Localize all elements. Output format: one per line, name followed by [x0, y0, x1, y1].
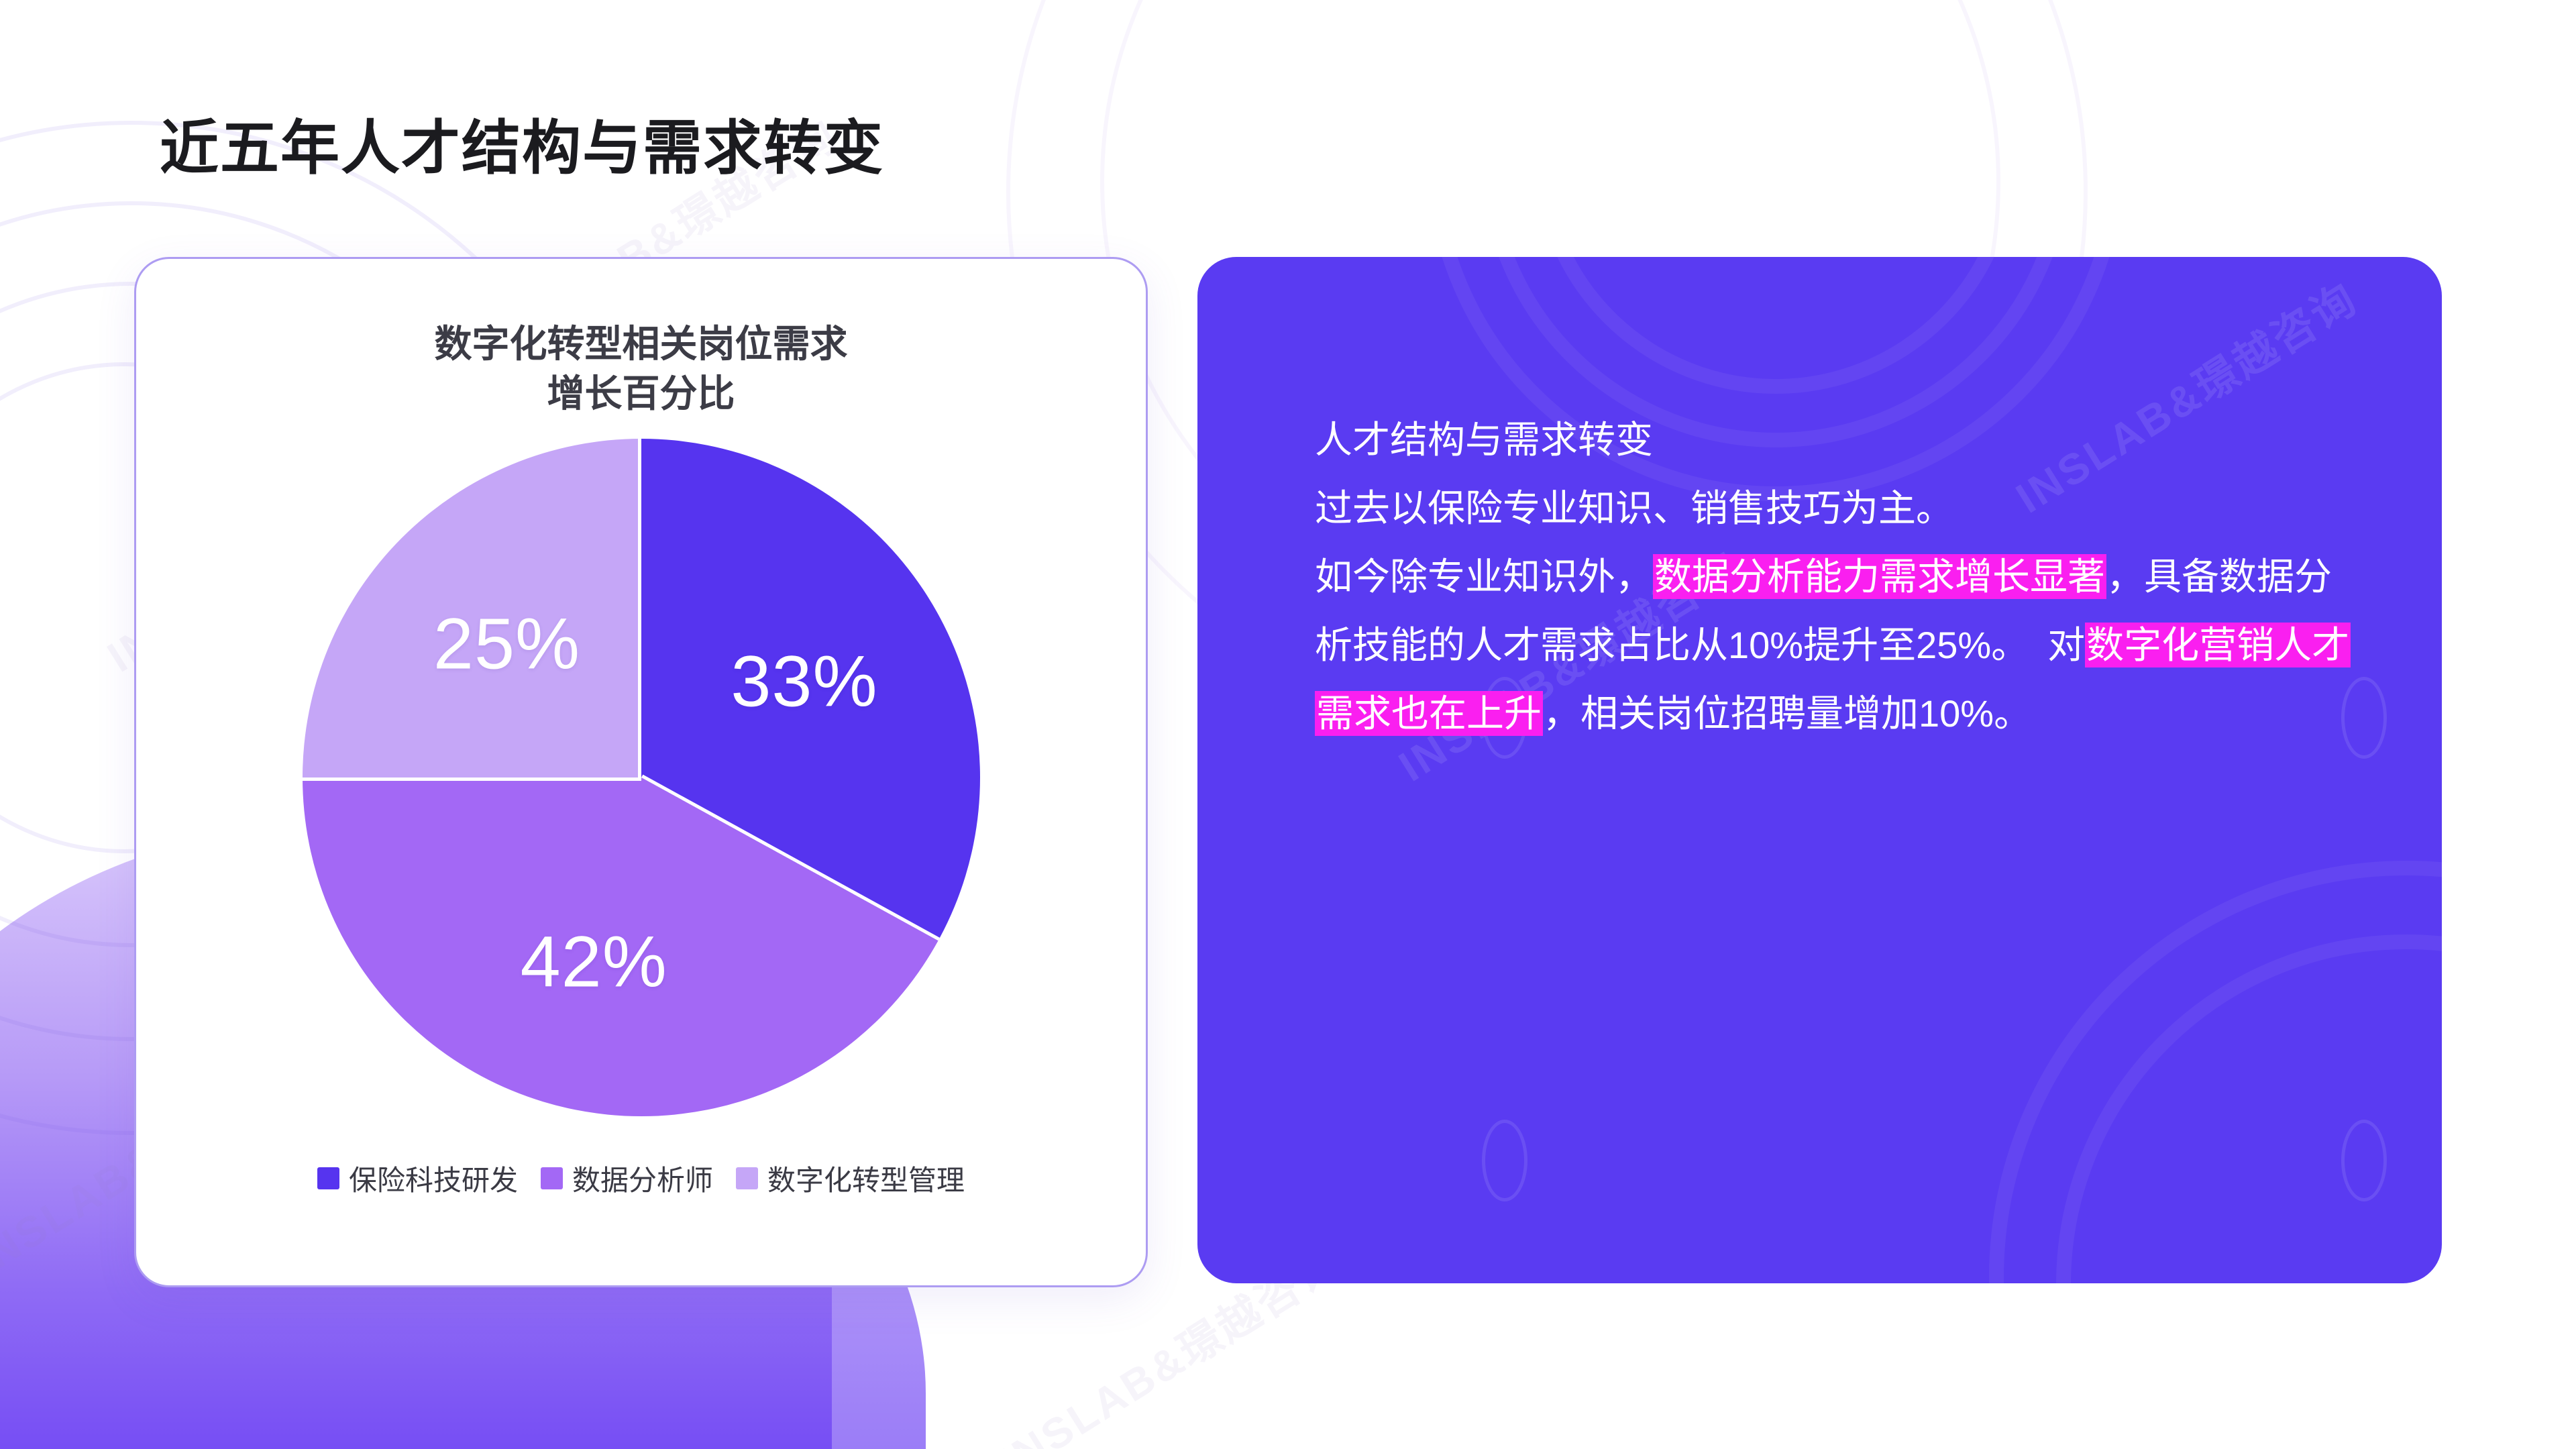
page-title: 近五年人才结构与需求转变 [160, 101, 884, 186]
info-panel-paragraph-2: 如今除专业知识外，数据分析能力需求增长显著，具备数据分析技能的人才需求占比从10… [1315, 543, 2363, 748]
pie-slice-divider [303, 777, 641, 781]
slide-canvas: INSLAB&璟越咨询 INSLAB&璟越咨询 INSLAB&璟越咨询 INSL… [0, 0, 2576, 1449]
pie-chart: 33% 42% 25% [303, 439, 980, 1116]
legend-color-swatch [541, 1167, 563, 1189]
chart-card: INSLAB&璟越咨询 数字化转型相关岗位需求 增长百分比 33% 42% 25… [134, 257, 1148, 1287]
legend-color-swatch [317, 1167, 339, 1189]
legend-item[interactable]: 数据分析师 [541, 1158, 713, 1199]
info-panel-paragraph-1: 过去以保险专业知识、销售技巧为主。 [1315, 474, 2363, 543]
panel-arc-icon [1989, 861, 2442, 1283]
highlight-data-analysis-demand: 数据分析能力需求增长显著 [1653, 554, 2106, 599]
legend-item-label: 数字化转型管理 [767, 1158, 965, 1199]
pie-slice-label: 33% [731, 639, 877, 722]
panel-arc-icon [2056, 934, 2442, 1283]
chart-title: 数字化转型相关岗位需求 增长百分比 [136, 319, 1146, 419]
pie-slice-label: 42% [521, 919, 667, 1003]
legend-item[interactable]: 数字化转型管理 [736, 1158, 965, 1199]
info-panel: INSLAB&璟越咨询 INSLAB&璟越咨询 人才结构与需求转变 过去以保险专… [1197, 257, 2442, 1283]
panel-ellipse-icon [2341, 1120, 2387, 1201]
info-panel-body: 人才结构与需求转变 过去以保险专业知识、销售技巧为主。 如今除专业知识外，数据分… [1197, 257, 2442, 748]
chart-legend: 保险科技研发 数据分析师 数字化转型管理 [136, 1158, 1146, 1199]
paragraph-2-text-part-3: ，相关岗位招聘量增加10%。 [1543, 692, 2031, 735]
legend-color-swatch [736, 1167, 758, 1189]
legend-item[interactable]: 保险科技研发 [317, 1158, 518, 1199]
legend-item-label: 保险科技研发 [349, 1158, 518, 1199]
legend-item-label: 数据分析师 [572, 1158, 713, 1199]
paragraph-2-text-part-1: 如今除专业知识外， [1315, 555, 1653, 598]
pie-slice-divider [638, 439, 641, 777]
pie-slice-label: 25% [433, 601, 580, 685]
chart-title-line-2: 增长百分比 [136, 369, 1146, 419]
panel-ellipse-icon [1482, 1120, 1527, 1201]
chart-title-line-1: 数字化转型相关岗位需求 [435, 323, 848, 365]
info-panel-heading: 人才结构与需求转变 [1315, 406, 2363, 474]
